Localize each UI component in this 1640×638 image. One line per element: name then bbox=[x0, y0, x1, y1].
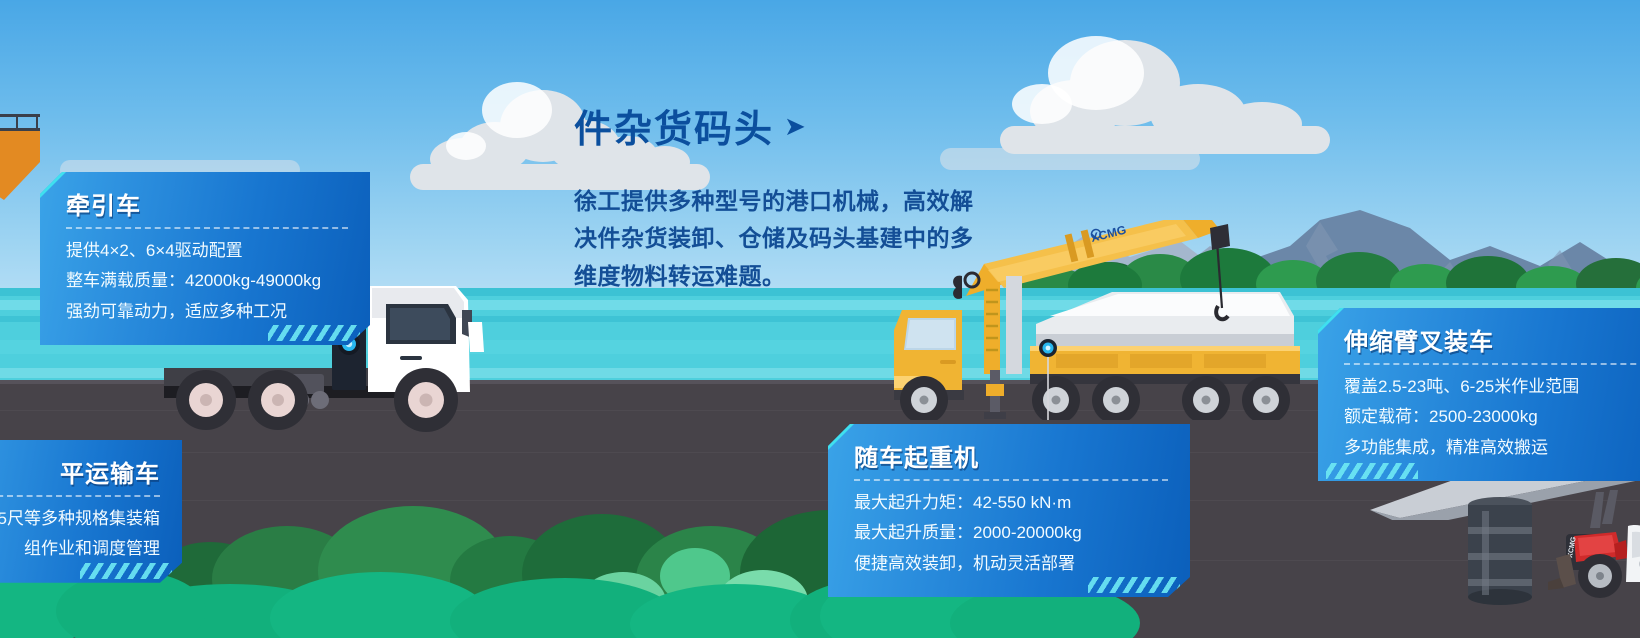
card-divider bbox=[0, 495, 160, 497]
info-card-telescopic-handler[interactable]: 伸缩臂叉装车 覆盖2.5-23吨、6-25米作业范围 额定载荷：2500-230… bbox=[1318, 308, 1640, 481]
page-description: 徐工提供多种型号的港口机械，高效解决件杂货装卸、仓储及码头基建中的多维度物料转运… bbox=[574, 183, 974, 295]
info-card-tractor[interactable]: 牵引车 提供4×2、6×4驱动配置 整车满载质量：42000kg-49000kg… bbox=[40, 172, 370, 345]
card-stripe-decoration-icon bbox=[1088, 577, 1180, 593]
page-title-text: 件杂货码头 bbox=[574, 98, 774, 153]
card-line: 组作业和调度管理 bbox=[0, 536, 160, 562]
card-line: 最大起升力矩：42-550 kN·m bbox=[854, 490, 1168, 516]
card-line: 5尺等多种规格集装箱 bbox=[0, 506, 160, 532]
info-card-container-flatbed[interactable]: 平运输车 5尺等多种规格集装箱 组作业和调度管理 bbox=[0, 440, 182, 583]
card-title: 平运输车 bbox=[0, 454, 160, 489]
card-title: 伸缩臂叉装车 bbox=[1344, 322, 1640, 357]
card-line: 提供4×2、6×4驱动配置 bbox=[66, 238, 348, 264]
headline-block: 件杂货码头 ➤ 徐工提供多种型号的港口机械，高效解决件杂货装卸、仓储及码头基建中… bbox=[574, 98, 974, 295]
card-stripe-decoration-icon bbox=[1326, 463, 1418, 479]
card-line: 强劲可靠动力，适应多种工况 bbox=[66, 299, 348, 325]
info-card-truck-mounted-crane[interactable]: 随车起重机 最大起升力矩：42-550 kN·m 最大起升质量：2000-200… bbox=[828, 424, 1190, 597]
card-title: 牵引车 bbox=[66, 186, 348, 221]
card-line: 覆盖2.5-23吨、6-25米作业范围 bbox=[1344, 374, 1640, 400]
card-line: 最大起升质量：2000-20000kg bbox=[854, 520, 1168, 546]
port-illustration-banner: XCMG bbox=[0, 0, 1640, 638]
oil-barrel bbox=[1460, 495, 1540, 605]
telescopic-forklift: XCMG bbox=[1530, 470, 1640, 600]
card-stripe-decoration-icon bbox=[268, 325, 360, 341]
card-divider bbox=[1344, 363, 1640, 365]
page-title: 件杂货码头 ➤ bbox=[574, 98, 974, 153]
card-line: 多功能集成，精准高效搬运 bbox=[1344, 435, 1640, 461]
chevron-right-icon[interactable]: ➤ bbox=[784, 113, 808, 139]
card-line: 额定载荷：2500-23000kg bbox=[1344, 404, 1640, 430]
card-line: 便捷高效装卸，机动灵活部署 bbox=[854, 551, 1168, 577]
card-line: 整车满载质量：42000kg-49000kg bbox=[66, 268, 348, 294]
card-title: 随车起重机 bbox=[854, 438, 1168, 473]
foreground-bush-cluster bbox=[150, 492, 910, 638]
card-divider bbox=[854, 479, 1168, 481]
card-divider bbox=[66, 227, 348, 229]
card-stripe-decoration-icon bbox=[80, 563, 172, 579]
